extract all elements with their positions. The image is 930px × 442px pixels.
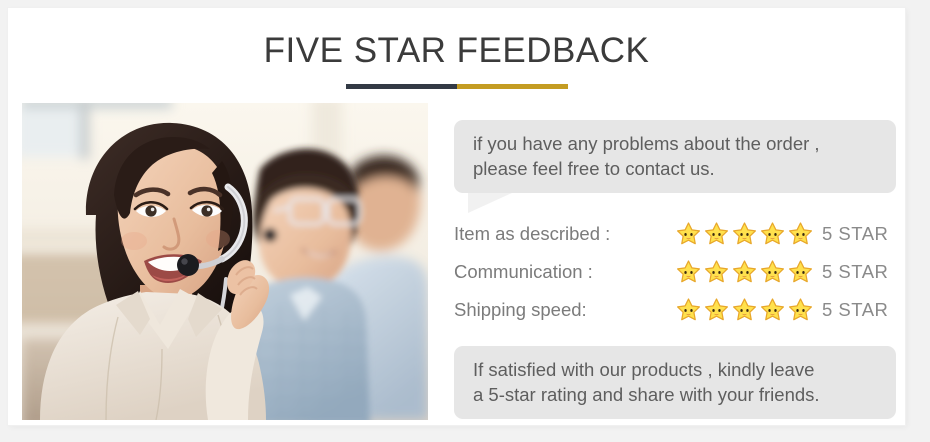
contact-us-line-1: if you have any problems about the order… — [473, 131, 882, 156]
star-icon — [732, 221, 757, 246]
speech-bubble-tail — [468, 192, 514, 213]
star-icon — [760, 259, 785, 284]
rating-list: Item as described : — [454, 215, 896, 329]
star-icon — [704, 259, 729, 284]
star-icon — [704, 221, 729, 246]
star-icon — [676, 259, 701, 284]
star-rating-group — [676, 221, 822, 246]
star-icon — [760, 221, 785, 246]
rating-row: Communication : — [454, 253, 896, 290]
star-icon — [788, 259, 813, 284]
rating-label: Communication : — [454, 261, 676, 283]
feedback-card: FIVE STAR FEEDBACK — [8, 8, 905, 425]
star-rating-group — [676, 259, 822, 284]
leave-rating-line-2: a 5-star rating and share with your frie… — [473, 382, 886, 407]
rating-value: 5 STAR — [822, 261, 898, 283]
rating-label: Shipping speed: — [454, 299, 676, 321]
customer-service-photo — [22, 103, 428, 420]
leave-rating-line-1: If satisfied with our products , kindly … — [473, 357, 886, 382]
star-icon — [732, 297, 757, 322]
rating-row: Shipping speed: — [454, 291, 896, 328]
page-title: FIVE STAR FEEDBACK — [8, 30, 905, 72]
title-underline-dark-segment — [346, 84, 457, 89]
title-underline — [346, 84, 568, 89]
star-icon — [788, 297, 813, 322]
star-icon — [676, 221, 701, 246]
page-background: FIVE STAR FEEDBACK — [0, 0, 930, 442]
contact-us-speech-bubble: if you have any problems about the order… — [454, 120, 896, 193]
rating-value: 5 STAR — [822, 223, 898, 245]
star-icon — [732, 259, 757, 284]
star-icon — [704, 297, 729, 322]
page-header: FIVE STAR FEEDBACK — [8, 30, 905, 89]
feedback-details-column: if you have any problems about the order… — [448, 103, 896, 420]
title-underline-gold-segment — [457, 84, 568, 89]
star-icon — [760, 297, 785, 322]
rating-label: Item as described : — [454, 223, 676, 245]
rating-value: 5 STAR — [822, 299, 898, 321]
star-icon — [676, 297, 701, 322]
star-icon — [788, 221, 813, 246]
rating-row: Item as described : — [454, 215, 896, 252]
star-rating-group — [676, 297, 822, 322]
leave-rating-bubble: If satisfied with our products , kindly … — [454, 346, 896, 419]
contact-us-line-2: please feel free to contact us. — [473, 156, 882, 181]
